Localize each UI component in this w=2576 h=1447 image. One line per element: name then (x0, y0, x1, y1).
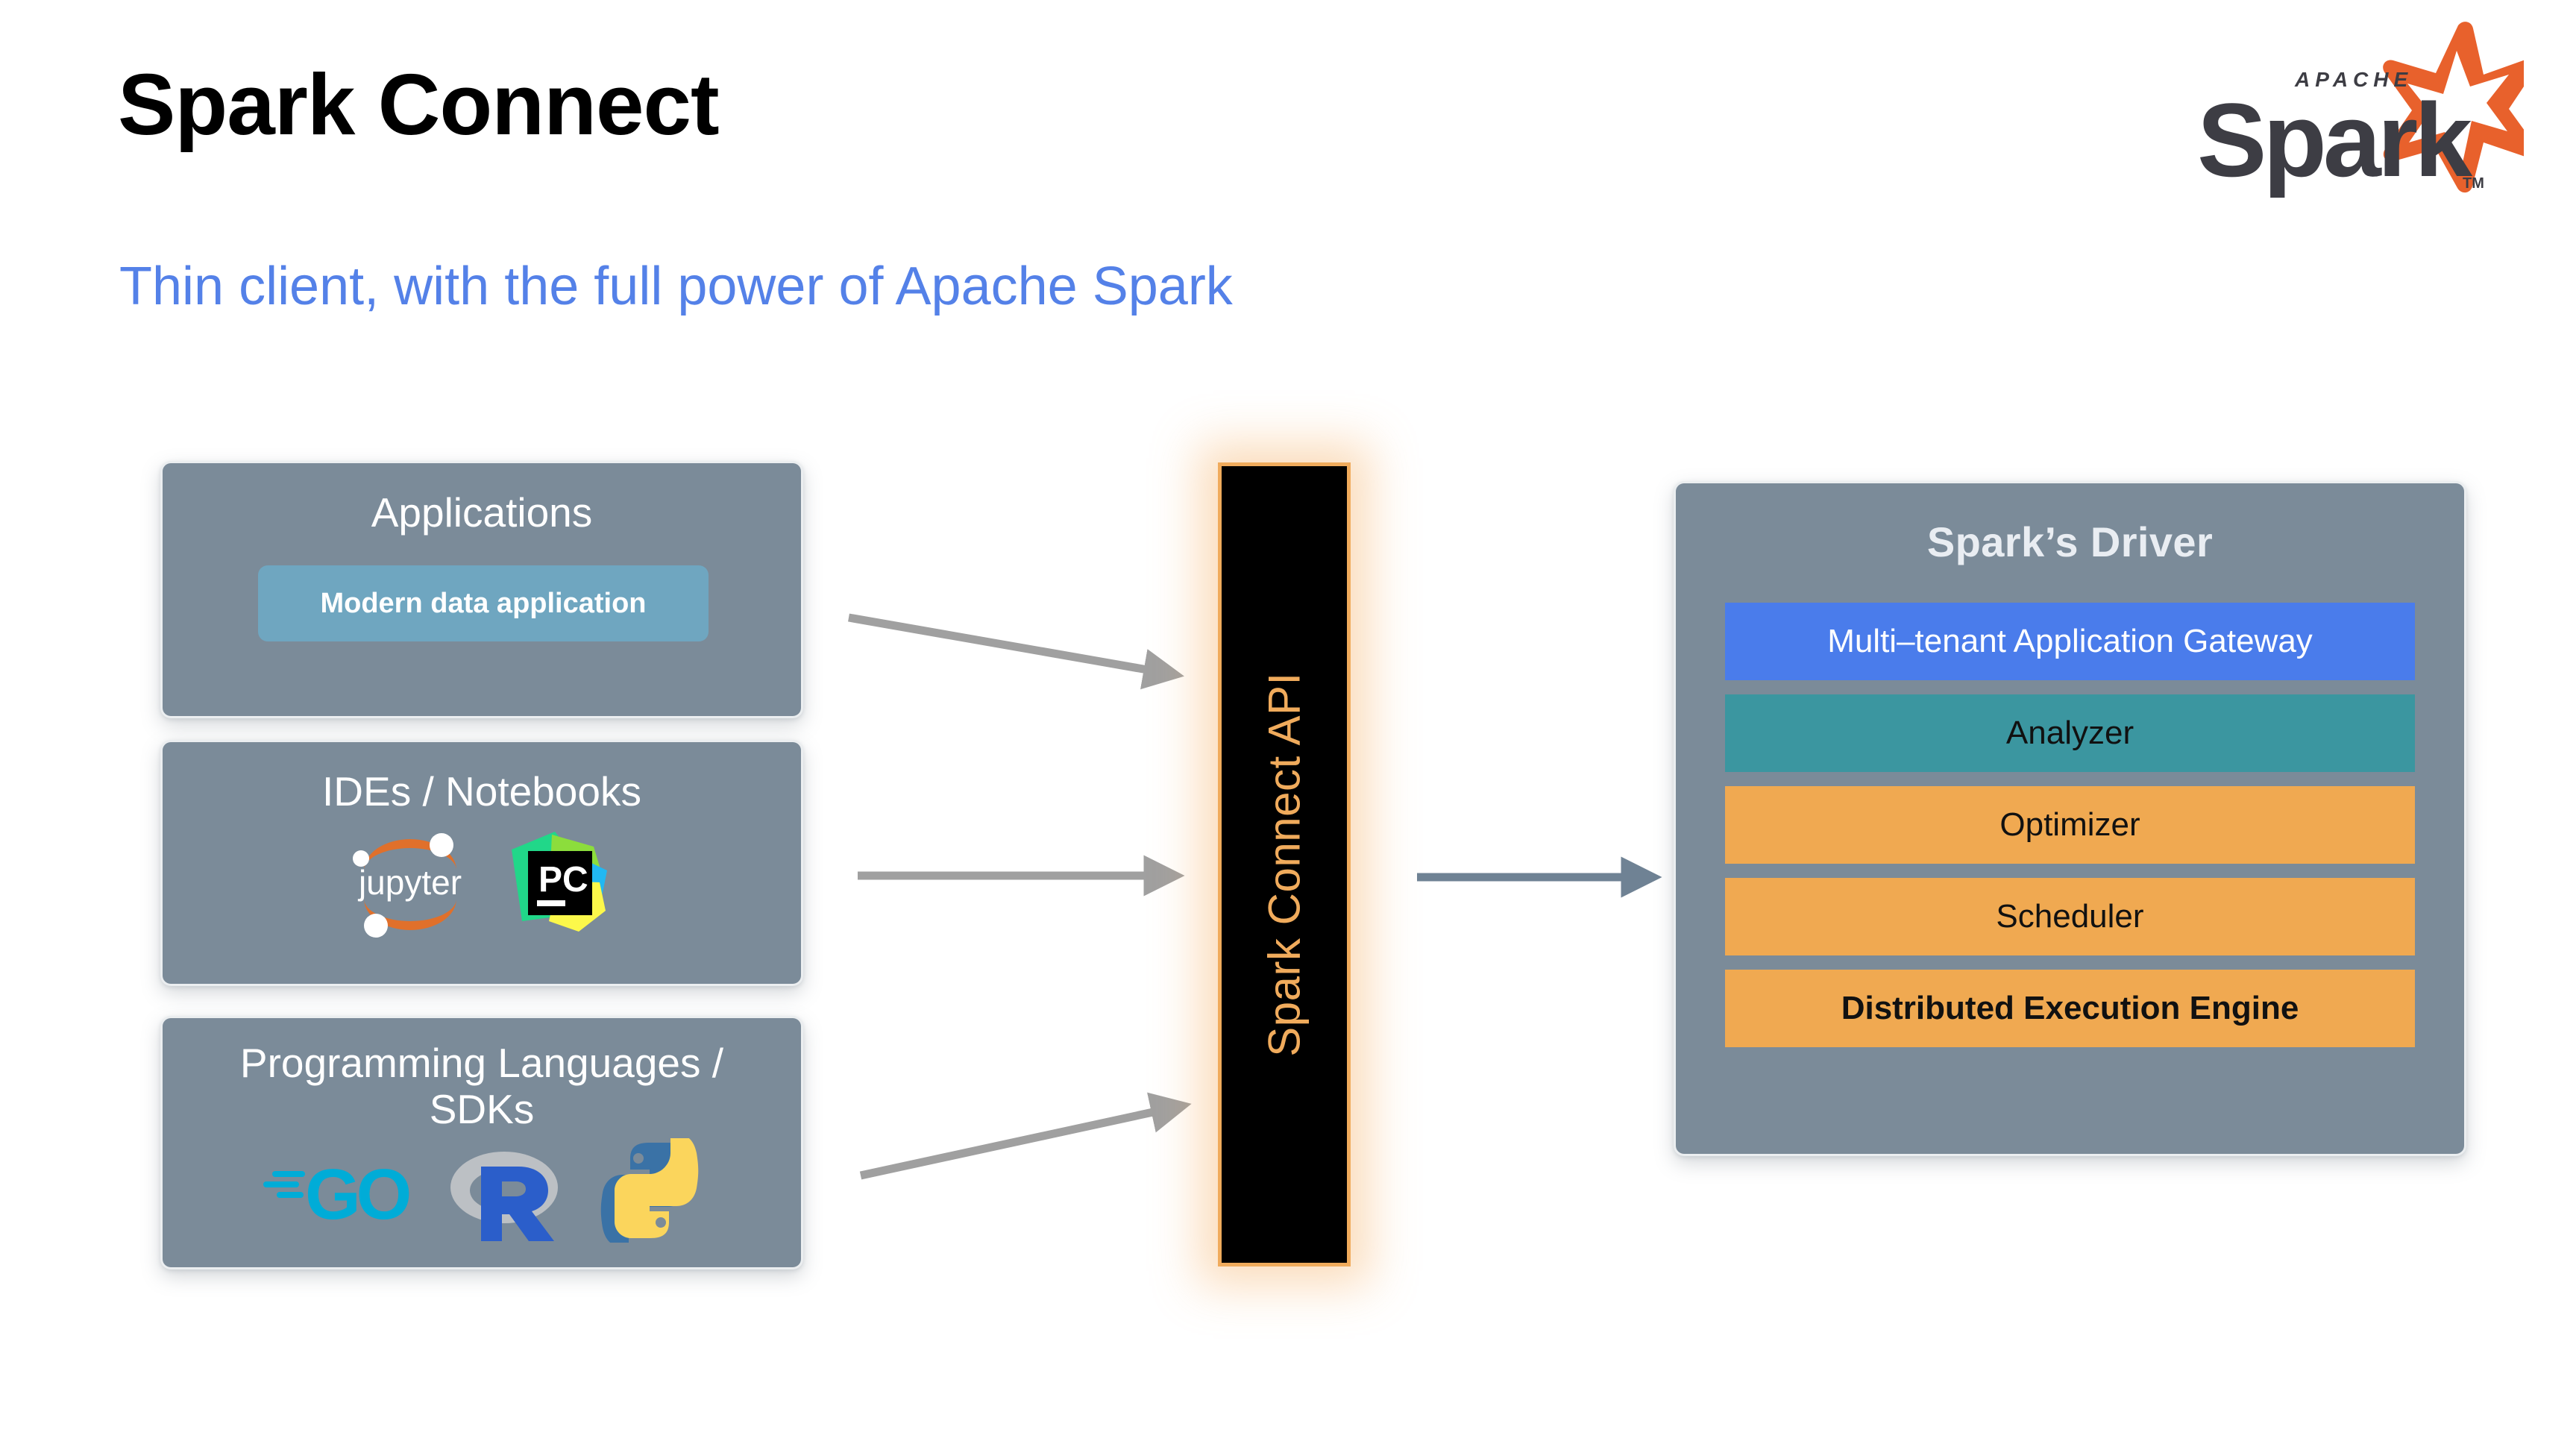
client-card-programming-languages: Programming Languages / SDKs GO (160, 1016, 803, 1269)
card-title-ides-notebooks: IDEs / Notebooks (163, 769, 801, 815)
card-title-applications: Applications (163, 490, 801, 536)
ides-logo-row: jupyter PC (163, 827, 801, 939)
r-letter-glyph (481, 1167, 554, 1241)
pycharm-logo: PC (504, 827, 616, 939)
apache-spark-logo: APACHE Spark TM (2151, 15, 2524, 224)
arrow-languages-to-api (850, 1044, 1216, 1193)
driver-layer-label: Analyzer (2006, 717, 2134, 750)
page-title: Spark Connect (118, 61, 719, 148)
arrow-api-to-driver (1417, 850, 1686, 925)
spark-connect-api-label: Spark Connect API (1259, 672, 1310, 1056)
driver-layer-optimizer: Optimizer (1725, 786, 2415, 864)
driver-layer-label: Optimizer (1999, 809, 2140, 841)
driver-layer-label: Multi–tenant Application Gateway (1827, 625, 2313, 658)
card-title-line-2: SDKs (430, 1086, 535, 1132)
go-logo: GO (262, 1146, 411, 1235)
driver-layer-label: Scheduler (1996, 900, 2143, 933)
trademark-mark: TM (2463, 175, 2484, 192)
spark-driver-layer-list: Multi–tenant Application Gateway Analyze… (1725, 603, 2415, 1047)
card-title-line-1: Programming Languages / (240, 1040, 723, 1086)
jupyter-wordmark: jupyter (357, 863, 462, 902)
driver-layer-analyzer: Analyzer (1725, 694, 2415, 772)
client-card-ides-notebooks: IDEs / Notebooks jupyter (160, 740, 803, 986)
languages-logo-row: GO (163, 1138, 801, 1243)
modern-data-application-pill: Modern data application (258, 565, 709, 641)
arrow-ides-to-api (858, 850, 1216, 925)
driver-layer-label: Distributed Execution Engine (1841, 992, 2299, 1025)
spark-driver-title: Spark’s Driver (1676, 518, 2464, 566)
client-card-applications: Applications Modern data application (160, 461, 803, 718)
jupyter-logo: jupyter (348, 827, 473, 939)
python-logo (597, 1138, 702, 1243)
card-title-programming-languages: Programming Languages / SDKs (163, 1040, 801, 1132)
driver-layer-gateway: Multi–tenant Application Gateway (1725, 603, 2415, 680)
spark-wordmark: Spark (2197, 81, 2472, 198)
spark-connect-api-bar: Spark Connect API (1218, 462, 1351, 1266)
arrow-applications-to-api (843, 604, 1216, 753)
go-wordmark: GO (305, 1155, 409, 1234)
pycharm-pc-text: PC (538, 860, 588, 900)
page-subtitle: Thin client, with the full power of Apac… (119, 260, 1233, 313)
spark-driver-panel: Spark’s Driver Multi–tenant Application … (1674, 481, 2466, 1156)
driver-layer-distributed-execution-engine: Distributed Execution Engine (1725, 970, 2415, 1047)
r-logo (448, 1138, 560, 1243)
driver-layer-scheduler: Scheduler (1725, 878, 2415, 955)
